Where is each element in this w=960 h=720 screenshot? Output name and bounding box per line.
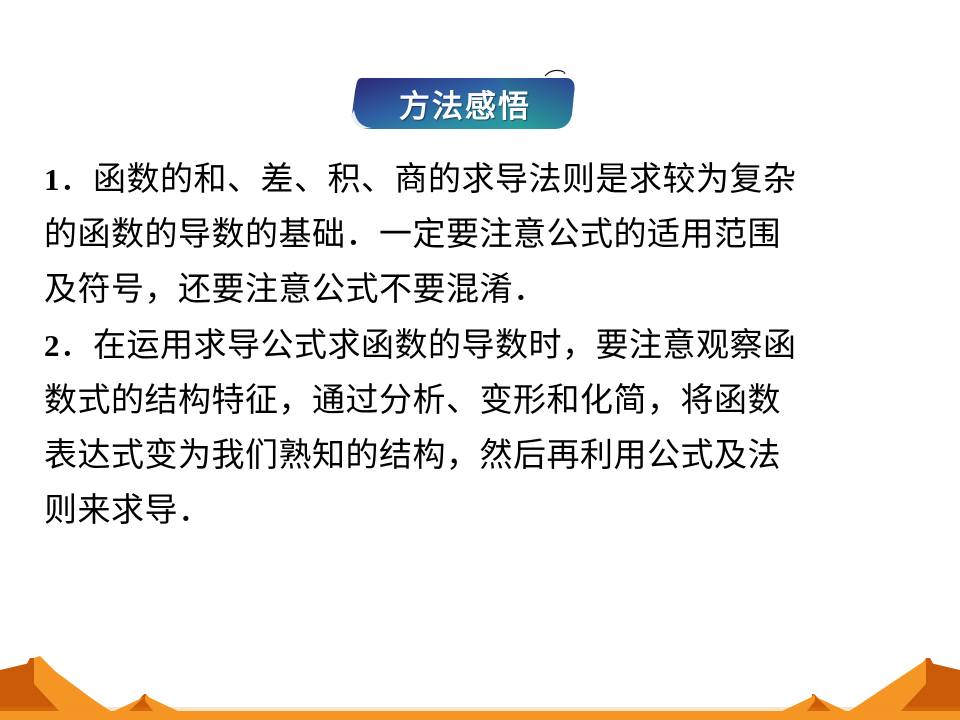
slide-canvas: 方法感悟 1．函数的和、差、积、商的求导法则是求较为复杂 的函数的导数的基础．一… [0, 0, 960, 720]
left-pyramids-icon [0, 656, 180, 712]
paragraph-2-number: 2 [44, 328, 60, 363]
paragraph-1-separator: ． [60, 162, 94, 198]
paragraph-2-separator: ． [60, 328, 94, 364]
paragraph-2-line-4: 则来求导． [44, 484, 924, 539]
paragraph-2-line-2: 数式的结构特征，通过分析、变形和化简，将函数 [44, 374, 924, 429]
paragraph-1: 1．函数的和、差、积、商的求导法则是求较为复杂 的函数的导数的基础．一定要注意公… [44, 152, 924, 318]
paragraph-2-line-1-text: 在运用求导公式求函数的导数时，要注意观察函 [93, 328, 797, 364]
paragraph-2: 2．在运用求导公式求函数的导数时，要注意观察函 数式的结构特征，通过分析、变形和… [44, 318, 924, 539]
paragraph-1-line-1-text: 函数的和、差、积、商的求导法则是求较为复杂 [93, 162, 797, 198]
paragraph-2-line-3: 表达式变为我们熟知的结构，然后再利用公式及法 [44, 429, 924, 484]
paragraph-1-number: 1 [44, 162, 60, 197]
footer-bar [0, 711, 960, 720]
paragraph-1-line-3: 及符号，还要注意公式不要混淆． [44, 263, 924, 318]
banner-title-text: 方法感悟 [344, 72, 580, 134]
title-banner: 方法感悟 [344, 72, 580, 134]
right-pyramids-icon [780, 658, 960, 712]
paragraph-1-line-1: 1．函数的和、差、积、商的求导法则是求较为复杂 [44, 152, 924, 208]
paragraph-1-line-2: 的函数的导数的基础．一定要注意公式的适用范围 [44, 208, 924, 263]
paragraph-2-line-1: 2．在运用求导公式求函数的导数时，要注意观察函 [44, 318, 924, 374]
content-body: 1．函数的和、差、积、商的求导法则是求较为复杂 的函数的导数的基础．一定要注意公… [44, 152, 924, 539]
